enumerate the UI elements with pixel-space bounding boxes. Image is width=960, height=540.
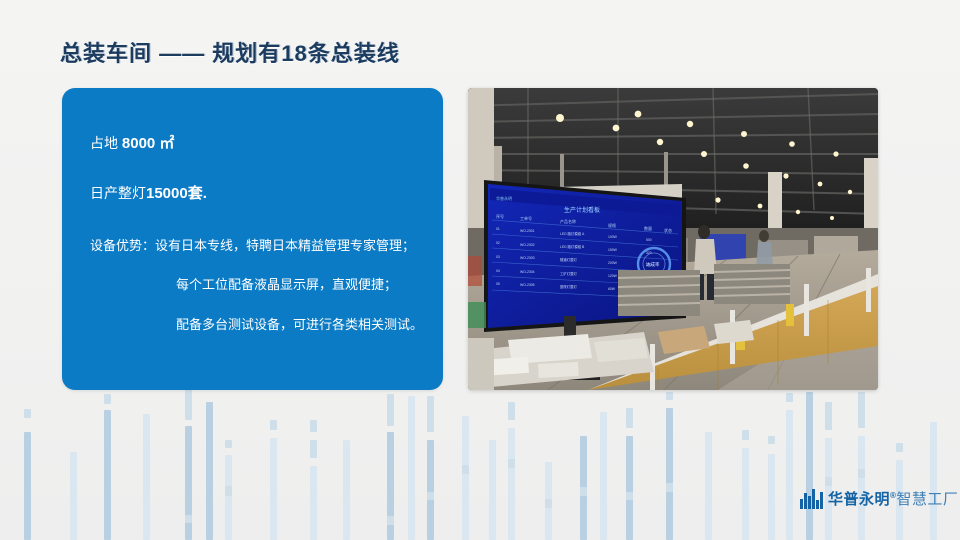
card-line-advantage-1: 设备优势：设有日本专线，特聘日本精益管理专家管理； <box>84 237 421 255</box>
card-line-advantage-3: 配备多台测试设备，可进行各类相关测试。 <box>84 316 421 334</box>
decor-bar-segment <box>858 469 865 478</box>
page-title: 总装车间 —— 规划有18条总装线 <box>60 36 400 68</box>
decor-bar <box>742 448 749 540</box>
decor-bar-segment <box>666 483 673 492</box>
svg-text:05: 05 <box>496 282 500 286</box>
svg-text:100W: 100W <box>608 235 618 239</box>
svg-text:LED 路灯模组 A: LED 路灯模组 A <box>560 231 585 236</box>
decor-bar-segment <box>768 436 775 444</box>
decor-bar-segment <box>225 440 232 448</box>
decor-bar-segment <box>666 392 673 400</box>
card-line-output: 日产整灯15000套. <box>84 184 421 204</box>
svg-text:规格: 规格 <box>608 222 616 228</box>
decor-bar <box>427 440 434 540</box>
svg-text:LED 路灯模组 B: LED 路灯模组 B <box>560 244 585 249</box>
decor-bar-segment <box>270 420 277 430</box>
decor-bar <box>206 402 213 540</box>
decor-bar <box>408 396 415 540</box>
card-line-area: 占地 8000 ㎡ <box>84 134 421 154</box>
svg-text:WO-2304: WO-2304 <box>520 270 535 274</box>
brand-logo-text: 华普永明®智慧工厂 <box>828 488 958 509</box>
svg-text:WO-2303: WO-2303 <box>520 256 535 260</box>
logo-mark-bar <box>808 496 811 509</box>
decor-bar <box>270 438 277 540</box>
output-value: 15000套. <box>146 185 207 202</box>
decor-bar-segment <box>858 392 865 428</box>
decor-bar <box>806 392 813 540</box>
decor-bar-segment <box>626 492 633 500</box>
decorative-bar-pattern <box>0 390 960 540</box>
decor-bar-segment <box>896 443 903 452</box>
bar-chart-mark-icon <box>800 489 822 509</box>
logo-mark-bar <box>816 500 819 509</box>
svg-text:WO-2305: WO-2305 <box>520 283 535 287</box>
decor-bar-segment <box>387 516 394 525</box>
decor-bar-segment <box>825 477 832 486</box>
svg-text:04: 04 <box>496 269 500 273</box>
decor-bar-segment <box>825 402 832 430</box>
decor-bar <box>508 428 515 540</box>
decor-bar <box>600 412 607 540</box>
svg-text:状态: 状态 <box>664 227 672 233</box>
svg-text:隧道灯整灯: 隧道灯整灯 <box>560 257 578 262</box>
decor-bar-segment <box>427 396 434 432</box>
card-line-advantage-2: 每个工位配备液晶显示屏，直观便捷； <box>84 276 421 294</box>
logo-mark-bar <box>804 493 807 509</box>
svg-text:序号: 序号 <box>496 213 504 219</box>
logo-mark-bar <box>800 499 803 509</box>
decor-bar <box>24 432 31 540</box>
brand-name: 华普永明 <box>828 491 890 508</box>
decor-bar <box>786 410 793 540</box>
decor-bar-segment <box>427 492 434 500</box>
decor-bar <box>705 432 712 540</box>
decor-bar <box>462 416 469 540</box>
decor-bar-segment <box>508 402 515 420</box>
decor-bar <box>930 422 937 540</box>
decor-bar-segment <box>508 459 515 468</box>
decor-bar-segment <box>786 393 793 402</box>
svg-text:产品名称: 产品名称 <box>560 218 576 224</box>
svg-text:500: 500 <box>646 238 652 242</box>
logo-mark-bar <box>812 489 815 509</box>
decor-bar-segment <box>185 515 192 523</box>
decor-bar <box>343 440 350 540</box>
decor-bar <box>225 455 232 540</box>
decor-bar <box>310 466 317 540</box>
svg-text:03: 03 <box>496 255 500 259</box>
decor-bar-segment <box>742 430 749 440</box>
svg-text:120W: 120W <box>608 274 618 278</box>
svg-text:数量: 数量 <box>644 225 652 231</box>
decor-bar-segment <box>24 409 31 418</box>
svg-text:庭院灯整灯: 庭院灯整灯 <box>560 284 578 289</box>
svg-text:华普永明: 华普永明 <box>496 195 512 201</box>
decor-bar <box>143 414 150 540</box>
factory-photo-illustration: 1号组装线 Assembly line 1 <box>468 88 878 390</box>
logo-mark-bar <box>820 492 823 509</box>
decor-bar <box>626 436 633 540</box>
brand-suffix: 智慧工厂 <box>896 491 958 508</box>
svg-text:生产计划看板: 生产计划看板 <box>564 206 600 214</box>
decor-bar <box>666 408 673 540</box>
slide-canvas: 总装车间 —— 规划有18条总装线 占地 8000 ㎡ 日产整灯15000套. … <box>0 0 960 540</box>
output-prefix-label: 日产整灯 <box>90 185 146 201</box>
svg-text:WO-2302: WO-2302 <box>520 243 535 247</box>
area-prefix-label: 占地 <box>90 135 122 151</box>
decor-bar <box>768 454 775 540</box>
decor-bar-segment <box>545 499 552 508</box>
decor-bar <box>489 440 496 540</box>
decor-bar-segment <box>626 408 633 428</box>
decor-bar-segment <box>580 487 587 496</box>
decor-bar-segment <box>310 440 317 458</box>
decor-bar-segment <box>462 465 469 474</box>
decor-bar-segment <box>387 394 394 426</box>
decor-bar-segment <box>225 486 232 496</box>
brand-logo: 华普永明®智慧工厂 <box>800 488 958 509</box>
decor-bar <box>70 452 77 540</box>
svg-text:工矿灯整灯: 工矿灯整灯 <box>560 271 578 276</box>
svg-text:02: 02 <box>496 241 500 245</box>
decor-bar-segment <box>104 394 111 404</box>
area-value: 8000 ㎡ <box>122 135 175 152</box>
decor-bar-segment <box>310 420 317 432</box>
decor-bar <box>104 410 111 540</box>
svg-text:WO-2301: WO-2301 <box>520 229 535 233</box>
svg-text:工单号: 工单号 <box>520 215 532 221</box>
svg-text:达成率: 达成率 <box>646 261 660 268</box>
factory-photo: 1号组装线 Assembly line 1 <box>468 88 878 390</box>
svg-text:150W: 150W <box>608 248 618 252</box>
svg-text:200W: 200W <box>608 261 618 265</box>
decor-bar-segment <box>185 390 192 420</box>
svg-text:01: 01 <box>496 227 500 231</box>
info-card: 占地 8000 ㎡ 日产整灯15000套. 设备优势：设有日本专线，特聘日本精益… <box>62 88 443 390</box>
svg-text:60W: 60W <box>608 287 616 291</box>
